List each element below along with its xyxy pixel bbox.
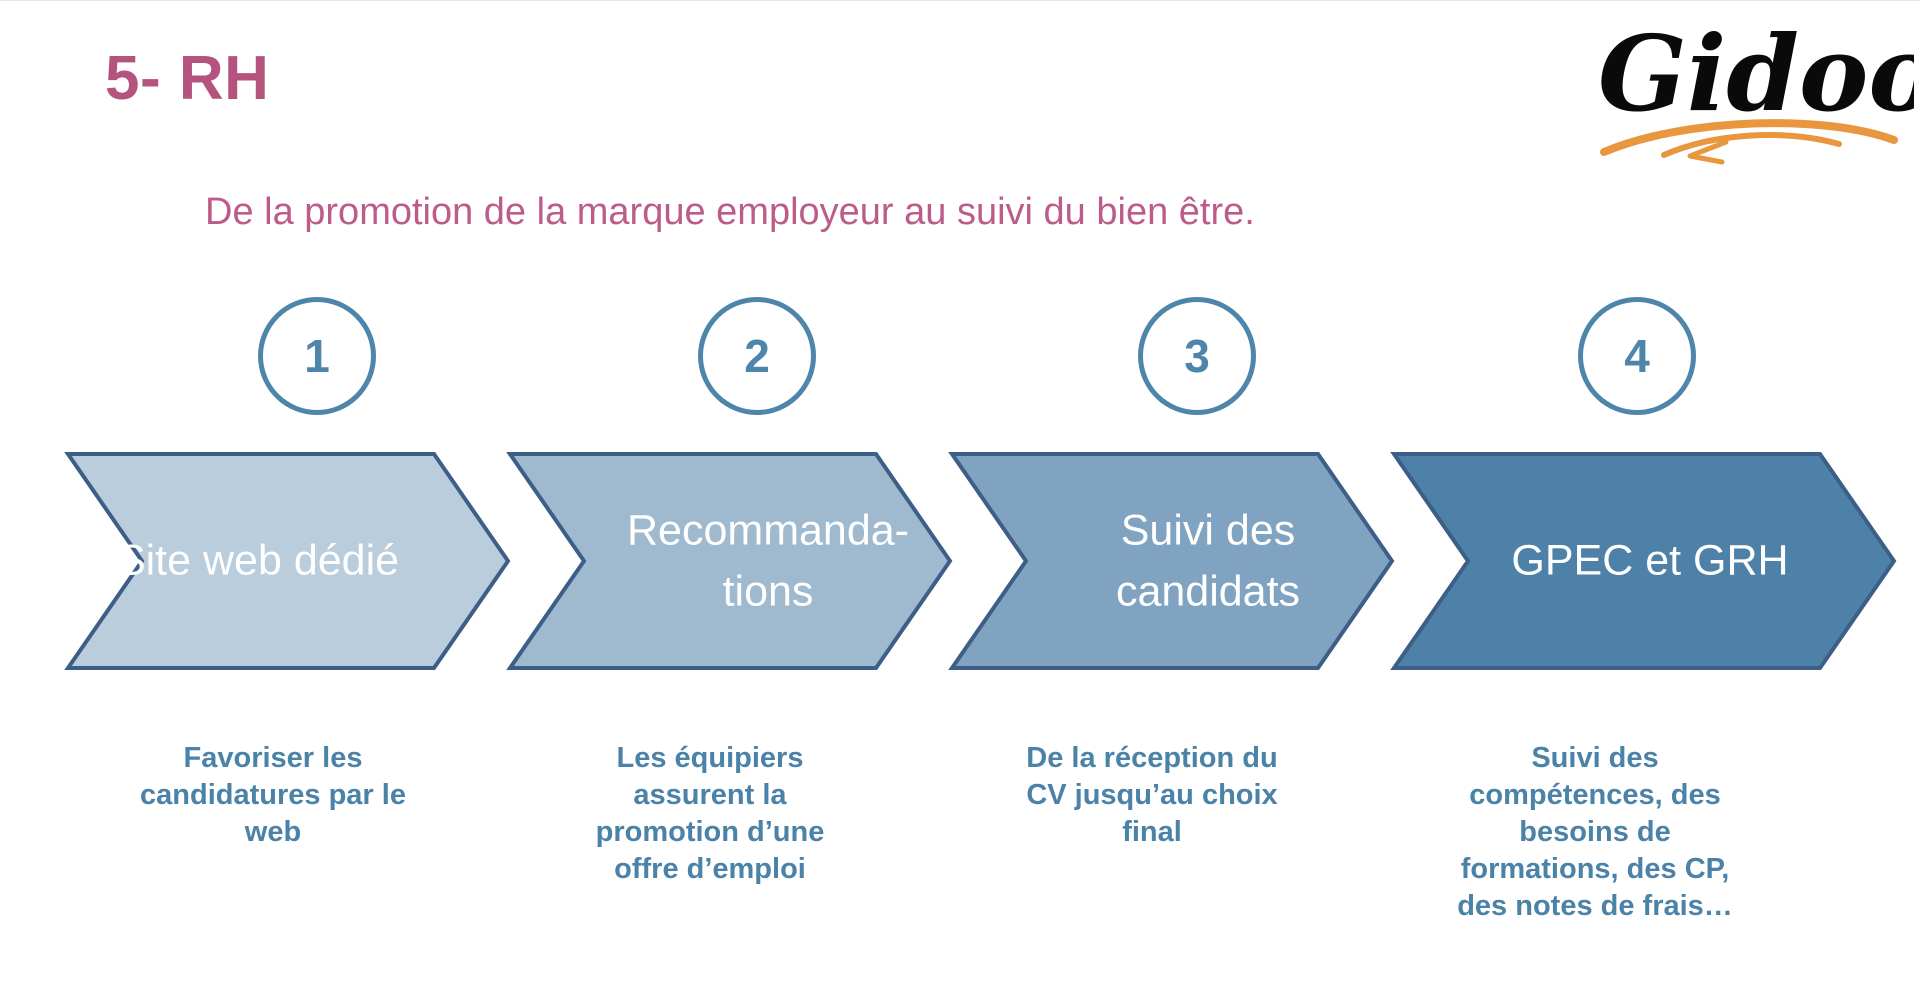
step-caption-4-line3: besoins de <box>1430 814 1760 851</box>
step-caption-3-line2: CV jusqu’au choix <box>1002 777 1302 814</box>
step-caption-3-line3: final <box>1002 814 1302 851</box>
chevron-step-1-label: Site web dédié <box>117 536 399 584</box>
chevron-step-3-label-line1: Suivi des <box>1121 506 1295 554</box>
step-caption-1: Favoriser les candidatures par le web <box>128 740 418 851</box>
step-caption-2-line4: offre d’emploi <box>565 851 855 888</box>
gidoo-logo-icon: Gidoo <box>1594 2 1914 180</box>
step-caption-4-line1: Suivi des <box>1430 740 1760 777</box>
step-caption-2-line1: Les équipiers <box>565 740 855 777</box>
top-hairline <box>0 0 1920 1</box>
step-caption-1-line2: candidatures par le <box>128 777 418 814</box>
step-circle-4[interactable]: 4 <box>1578 297 1696 415</box>
step-caption-4-line5: des notes de frais… <box>1430 888 1760 925</box>
step-caption-1-line1: Favoriser les <box>128 740 418 777</box>
step-circle-2-number: 2 <box>744 329 770 383</box>
page-title: 5- RH <box>105 46 269 111</box>
chevron-step-3[interactable] <box>952 454 1392 668</box>
step-caption-4-line2: compétences, des <box>1430 777 1760 814</box>
step-caption-2-line3: promotion d’une <box>565 814 855 851</box>
chevron-step-2-label-line1: Recommanda- <box>627 506 909 554</box>
step-circle-2[interactable]: 2 <box>698 297 816 415</box>
step-circle-4-number: 4 <box>1624 329 1650 383</box>
logo-swoosh-inner-icon <box>1664 135 1839 155</box>
step-caption-2-line2: assurent la <box>565 777 855 814</box>
page-subtitle: De la promotion de la marque employeur a… <box>205 190 1255 236</box>
step-circle-3[interactable]: 3 <box>1138 297 1256 415</box>
step-caption-1-line3: web <box>128 814 418 851</box>
step-caption-2: Les équipiers assurent la promotion d’un… <box>565 740 855 888</box>
step-caption-4: Suivi des compétences, des besoins de fo… <box>1430 740 1760 926</box>
chevron-step-2[interactable] <box>510 454 950 668</box>
chevron-step-4-label: GPEC et GRH <box>1511 536 1788 584</box>
chevron-step-3-label-line2: candidats <box>1116 567 1300 615</box>
step-circle-1[interactable]: 1 <box>258 297 376 415</box>
step-circle-1-number: 1 <box>304 329 330 383</box>
step-caption-3-line1: De la réception du <box>1002 740 1302 777</box>
step-caption-3: De la réception du CV jusqu’au choix fin… <box>1002 740 1302 851</box>
step-circle-3-number: 3 <box>1184 329 1210 383</box>
process-chevron-band: Site web dédié Recommanda- tions Suivi d… <box>0 450 1920 672</box>
gidoo-logo: Gidoo <box>1594 2 1914 180</box>
step-caption-4-line4: formations, des CP, <box>1430 851 1760 888</box>
chevron-step-2-label-line2: tions <box>723 567 814 615</box>
logo-wordmark: Gidoo <box>1598 12 1914 135</box>
